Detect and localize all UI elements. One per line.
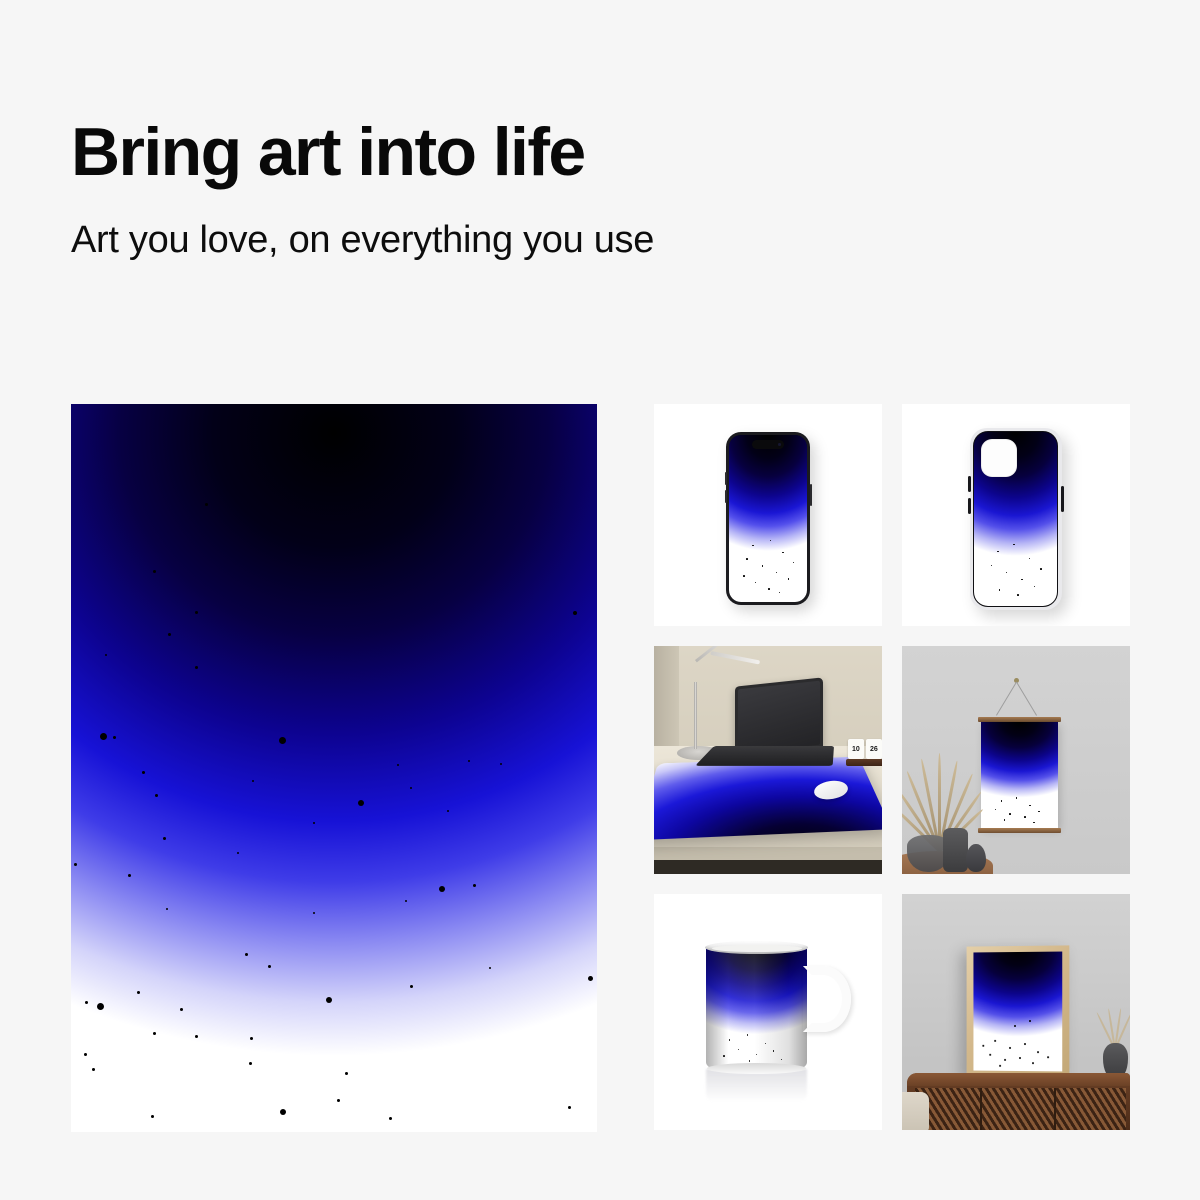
sideboard-door-divider-1 <box>980 1088 982 1130</box>
hanger-rope-right <box>1016 682 1037 716</box>
calendar-cards: 10 26 <box>848 739 882 759</box>
page-title: Bring art into life <box>71 118 971 186</box>
hanging-poster-mockup[interactable] <box>902 646 1130 874</box>
tall-vase <box>943 828 968 871</box>
hanging-art-gradient <box>981 722 1059 828</box>
hanging-poster-scene <box>902 646 1130 874</box>
calendar-stand <box>846 759 882 766</box>
hero-artwork[interactable] <box>71 404 597 1132</box>
hanging-poster-product <box>981 717 1059 833</box>
page-subtitle: Art you love, on everything you use <box>71 220 971 262</box>
artwork-gradient <box>71 404 597 1132</box>
mug-reflection <box>706 1069 806 1102</box>
hanging-poster-art <box>981 722 1059 828</box>
sideboard-doors <box>915 1088 1125 1130</box>
dynamic-island <box>752 440 784 449</box>
mug-mockup[interactable] <box>654 894 882 1130</box>
poster-rail-bottom <box>978 828 1062 833</box>
sofa-corner <box>902 1092 929 1130</box>
poster-frame <box>966 945 1068 1078</box>
mockup-grid: 10 26 <box>654 404 1130 1132</box>
laptop <box>729 682 825 773</box>
calendar-day: 26 <box>866 739 882 759</box>
mug-body <box>706 946 806 1069</box>
desk-edge <box>654 847 882 861</box>
phone-case-back <box>973 431 1058 607</box>
power-button <box>810 484 812 506</box>
product-gallery: 10 26 <box>71 404 1130 1132</box>
phone-wallpaper-art <box>729 435 807 602</box>
header: Bring art into life Art you love, on eve… <box>71 118 971 262</box>
volume-up-button <box>725 472 727 485</box>
dried-stems <box>1105 998 1123 1050</box>
phone-scene <box>654 404 882 626</box>
case-volume-down-cutout <box>968 498 971 514</box>
case-volume-up-cutout <box>968 476 971 492</box>
mug-art <box>706 946 806 1069</box>
phone-case-scene <box>902 404 1130 626</box>
sideboard-door-divider-2 <box>1054 1088 1056 1130</box>
framed-poster-art <box>973 951 1061 1071</box>
mug-scene <box>654 894 882 1130</box>
sideboard-cabinet <box>907 1073 1130 1130</box>
phone-screen <box>729 435 807 602</box>
desk-scene: 10 26 <box>654 646 882 874</box>
phone-case-mockup[interactable] <box>902 404 1130 626</box>
desk-shadow-under <box>654 860 882 874</box>
desk-lamp-stem <box>694 682 697 748</box>
case-power-cutout <box>1061 486 1064 512</box>
volume-down-button <box>725 490 727 503</box>
mug-handle <box>803 966 851 1032</box>
desk-calendar: 10 26 <box>848 739 882 766</box>
camera-cutout <box>981 439 1017 477</box>
mug-product <box>706 946 806 1069</box>
mug-base <box>707 1063 805 1074</box>
laptop-keyboard <box>695 746 834 766</box>
framed-art-gradient <box>973 951 1061 1071</box>
framed-poster-mockup[interactable] <box>902 894 1130 1130</box>
desk-mat-mockup[interactable]: 10 26 <box>654 646 882 874</box>
framed-poster-scene <box>902 894 1130 1130</box>
phone-wallpaper-mockup[interactable] <box>654 404 882 626</box>
page-root: Bring art into life Art you love, on eve… <box>0 0 1200 1200</box>
small-vase <box>966 844 987 871</box>
calendar-month: 10 <box>848 739 864 759</box>
phone-device <box>726 432 810 605</box>
hanger-rope-left <box>996 682 1017 716</box>
phone-case-device <box>970 428 1062 610</box>
sideboard-top-surface <box>907 1073 1130 1085</box>
